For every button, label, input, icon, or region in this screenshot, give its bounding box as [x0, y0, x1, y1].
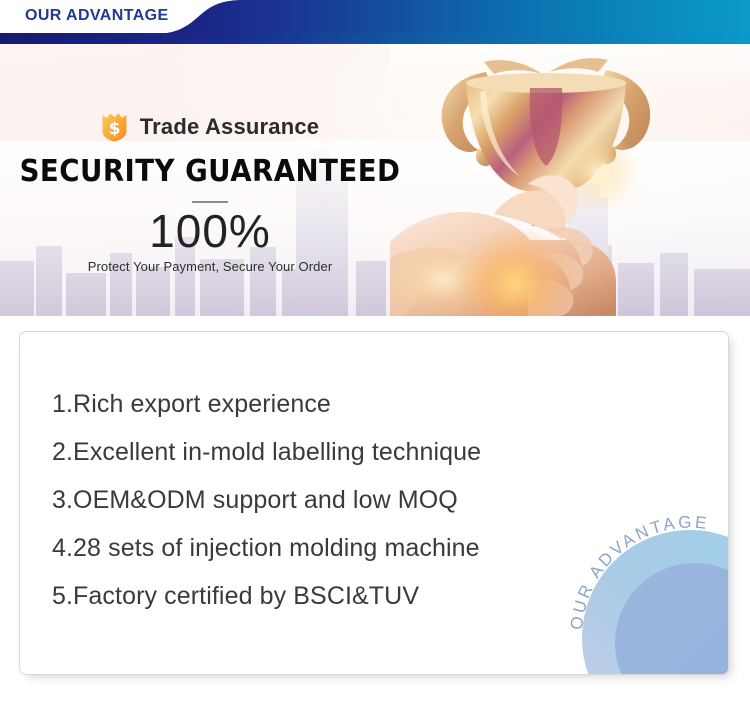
list-item: 3.OEM&ODM support and low MOQ	[52, 476, 708, 524]
percent-value: 100%	[0, 207, 420, 255]
list-item: 1.Rich export experience	[52, 380, 708, 428]
shield-dollar-icon: $	[101, 112, 128, 142]
trade-assurance-block: $ Trade Assurance SECURITY GUARANTEED 10…	[0, 112, 420, 274]
security-guaranteed-headline: SECURITY GUARANTEED	[17, 154, 403, 189]
headline-divider	[192, 201, 228, 203]
page-header: OUR ADVANTAGE	[0, 0, 750, 44]
trade-assurance-banner: $ Trade Assurance SECURITY GUARANTEED 10…	[0, 44, 750, 316]
svg-text:$: $	[108, 119, 120, 139]
advantage-list: 1.Rich export experience 2.Excellent in-…	[52, 380, 708, 620]
tagline: Protect Your Payment, Secure Your Order	[0, 259, 420, 274]
list-item: 4.28 sets of injection molding machine	[52, 524, 708, 572]
trade-assurance-label: Trade Assurance	[140, 114, 320, 140]
page-title: OUR ADVANTAGE	[25, 7, 169, 25]
holding-hands-icon	[390, 44, 750, 316]
advantage-card: OUR ADVANTAGE 1.Rich export experience 2…	[19, 331, 729, 675]
list-item: 2.Excellent in-mold labelling technique	[52, 428, 708, 476]
list-item: 5.Factory certified by BSCI&TUV	[52, 572, 708, 620]
